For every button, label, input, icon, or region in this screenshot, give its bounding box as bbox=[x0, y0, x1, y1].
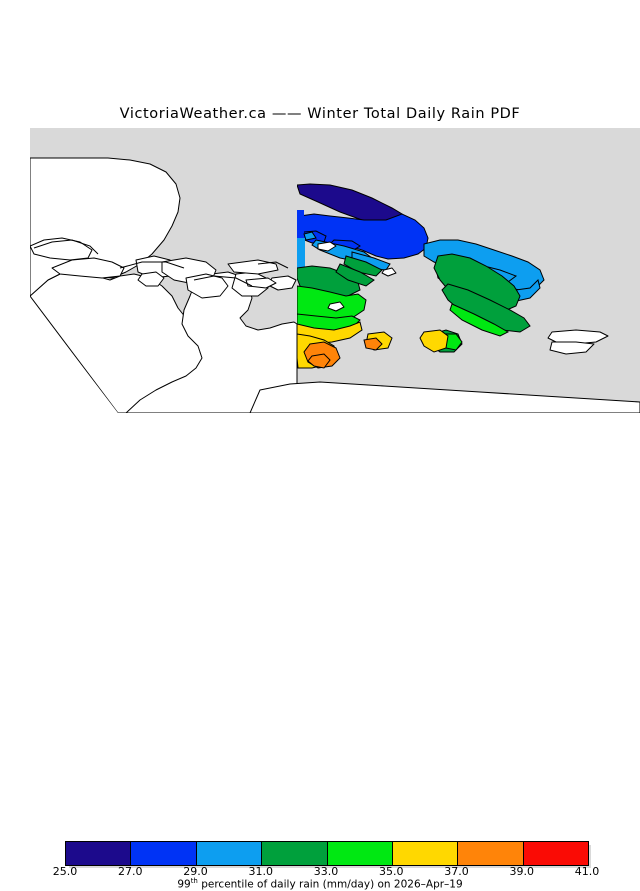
page-title: VictoriaWeather.ca —— Winter Total Daily… bbox=[0, 106, 640, 122]
map-body bbox=[30, 128, 640, 413]
map-canvas bbox=[0, 128, 640, 413]
colorbar-segment-1 bbox=[131, 842, 196, 865]
colorbar-region: 25.027.029.031.033.035.037.039.041.0 99t… bbox=[0, 418, 640, 480]
colorbar-segment-4 bbox=[328, 842, 393, 865]
weather-map-page: VictoriaWeather.ca —— Winter Total Daily… bbox=[0, 0, 640, 480]
colorbar-segment-2 bbox=[197, 842, 262, 865]
colorbar-segment-3 bbox=[262, 842, 327, 865]
region-clip-edge-lightblue bbox=[297, 238, 305, 270]
colorbar-caption: 99th percentile of daily rain (mm/day) o… bbox=[0, 877, 640, 891]
colorbar-segment-6 bbox=[458, 842, 523, 865]
colorbar-segment-7 bbox=[524, 842, 588, 865]
colorbar-segment-5 bbox=[393, 842, 458, 865]
region-clip-edge-blue bbox=[297, 210, 304, 238]
colorbar-segment-0 bbox=[66, 842, 131, 865]
colorbar bbox=[65, 841, 589, 866]
map-graphic bbox=[0, 128, 640, 413]
